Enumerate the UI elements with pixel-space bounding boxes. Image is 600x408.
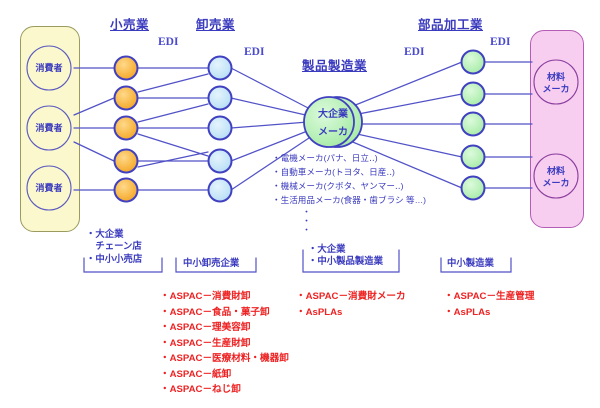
retail-bracket-label: ・大企業 チェーン店 ・中小小売店 bbox=[86, 228, 142, 265]
solution-item: ・ASPAC－生産財卸 bbox=[160, 336, 289, 352]
manufacturer-example-continuation: ・・・ bbox=[272, 208, 426, 236]
diagram-canvas: 小売業 卸売業 製品製造業 部品加工業 EDI EDI EDI EDI 消費者 … bbox=[0, 0, 600, 408]
manufacturer-solutions-list: ・ASPAC－消費財メーカ ・AsPLAs bbox=[296, 289, 406, 320]
small-manufacturer-bracket-label: 中小製造業 bbox=[447, 257, 494, 269]
header-retail: 小売業 bbox=[110, 14, 149, 33]
product-manufacturer-bracket-line: ・大企業 bbox=[308, 243, 383, 255]
solution-item: ・AsPLAs bbox=[444, 305, 534, 321]
solution-item: ・ASPAC－ねじ卸 bbox=[160, 382, 289, 398]
small-manufacturer-bracket-line: 中小製造業 bbox=[447, 257, 494, 269]
retail-bracket-line: ・中小小売店 bbox=[86, 253, 142, 265]
wholesale-solutions-list: ・ASPAC－消費財卸 ・ASPAC－食品・菓子卸 ・ASPAC－理美容卸 ・A… bbox=[160, 289, 289, 398]
manufacturer-example-item: ・電機メーカ(パナ、日立‥) bbox=[272, 152, 426, 166]
solution-item: ・ASPAC－消費財メーカ bbox=[296, 289, 406, 305]
manufacturer-example-list: ・電機メーカ(パナ、日立‥) ・自動車メーカ(トヨタ、日産‥) ・機械メーカ(ク… bbox=[272, 152, 426, 235]
edi-label-retail-wholesale: EDI bbox=[158, 36, 178, 48]
solution-item: ・ASPAC－医療材料・機器卸 bbox=[160, 351, 289, 367]
manufacturer-example-item: ・機械メーカ(クボタ、ヤンマー‥) bbox=[272, 180, 426, 194]
manufacturer-example-item: ・生活用品メーカ(食器・歯ブラシ 等…) bbox=[272, 194, 426, 208]
edi-label-maker-parts: EDI bbox=[404, 46, 424, 58]
product-manufacturer-bracket-line: ・中小製品製造業 bbox=[308, 255, 383, 267]
solution-item: ・ASPAC－理美容卸 bbox=[160, 320, 289, 336]
wholesale-bracket-line: 中小卸売企業 bbox=[183, 257, 239, 269]
header-wholesale: 卸売業 bbox=[196, 14, 235, 33]
retail-bracket-line: ・大企業 bbox=[86, 228, 142, 240]
header-manufacturing: 製品製造業 bbox=[302, 55, 367, 74]
edi-label-wholesale-maker: EDI bbox=[244, 46, 264, 58]
solution-item: ・ASPAC－紙卸 bbox=[160, 367, 289, 383]
solution-item: ・ASPAC－食品・菓子卸 bbox=[160, 305, 289, 321]
edi-label-parts-material: EDI bbox=[490, 36, 510, 48]
manufacturer-example-item: ・自動車メーカ(トヨタ、日産‥) bbox=[272, 166, 426, 180]
retail-bracket-line: チェーン店 bbox=[86, 240, 142, 252]
product-manufacturer-bracket-label: ・大企業 ・中小製品製造業 bbox=[308, 243, 383, 268]
solution-item: ・ASPAC－生産管理 bbox=[444, 289, 534, 305]
solution-item: ・ASPAC－消費財卸 bbox=[160, 289, 289, 305]
wholesale-bracket-label: 中小卸売企業 bbox=[183, 257, 239, 269]
header-parts-processing: 部品加工業 bbox=[418, 14, 483, 33]
small-manufacturer-solutions-list: ・ASPAC－生産管理 ・AsPLAs bbox=[444, 289, 534, 320]
solution-item: ・AsPLAs bbox=[296, 305, 406, 321]
